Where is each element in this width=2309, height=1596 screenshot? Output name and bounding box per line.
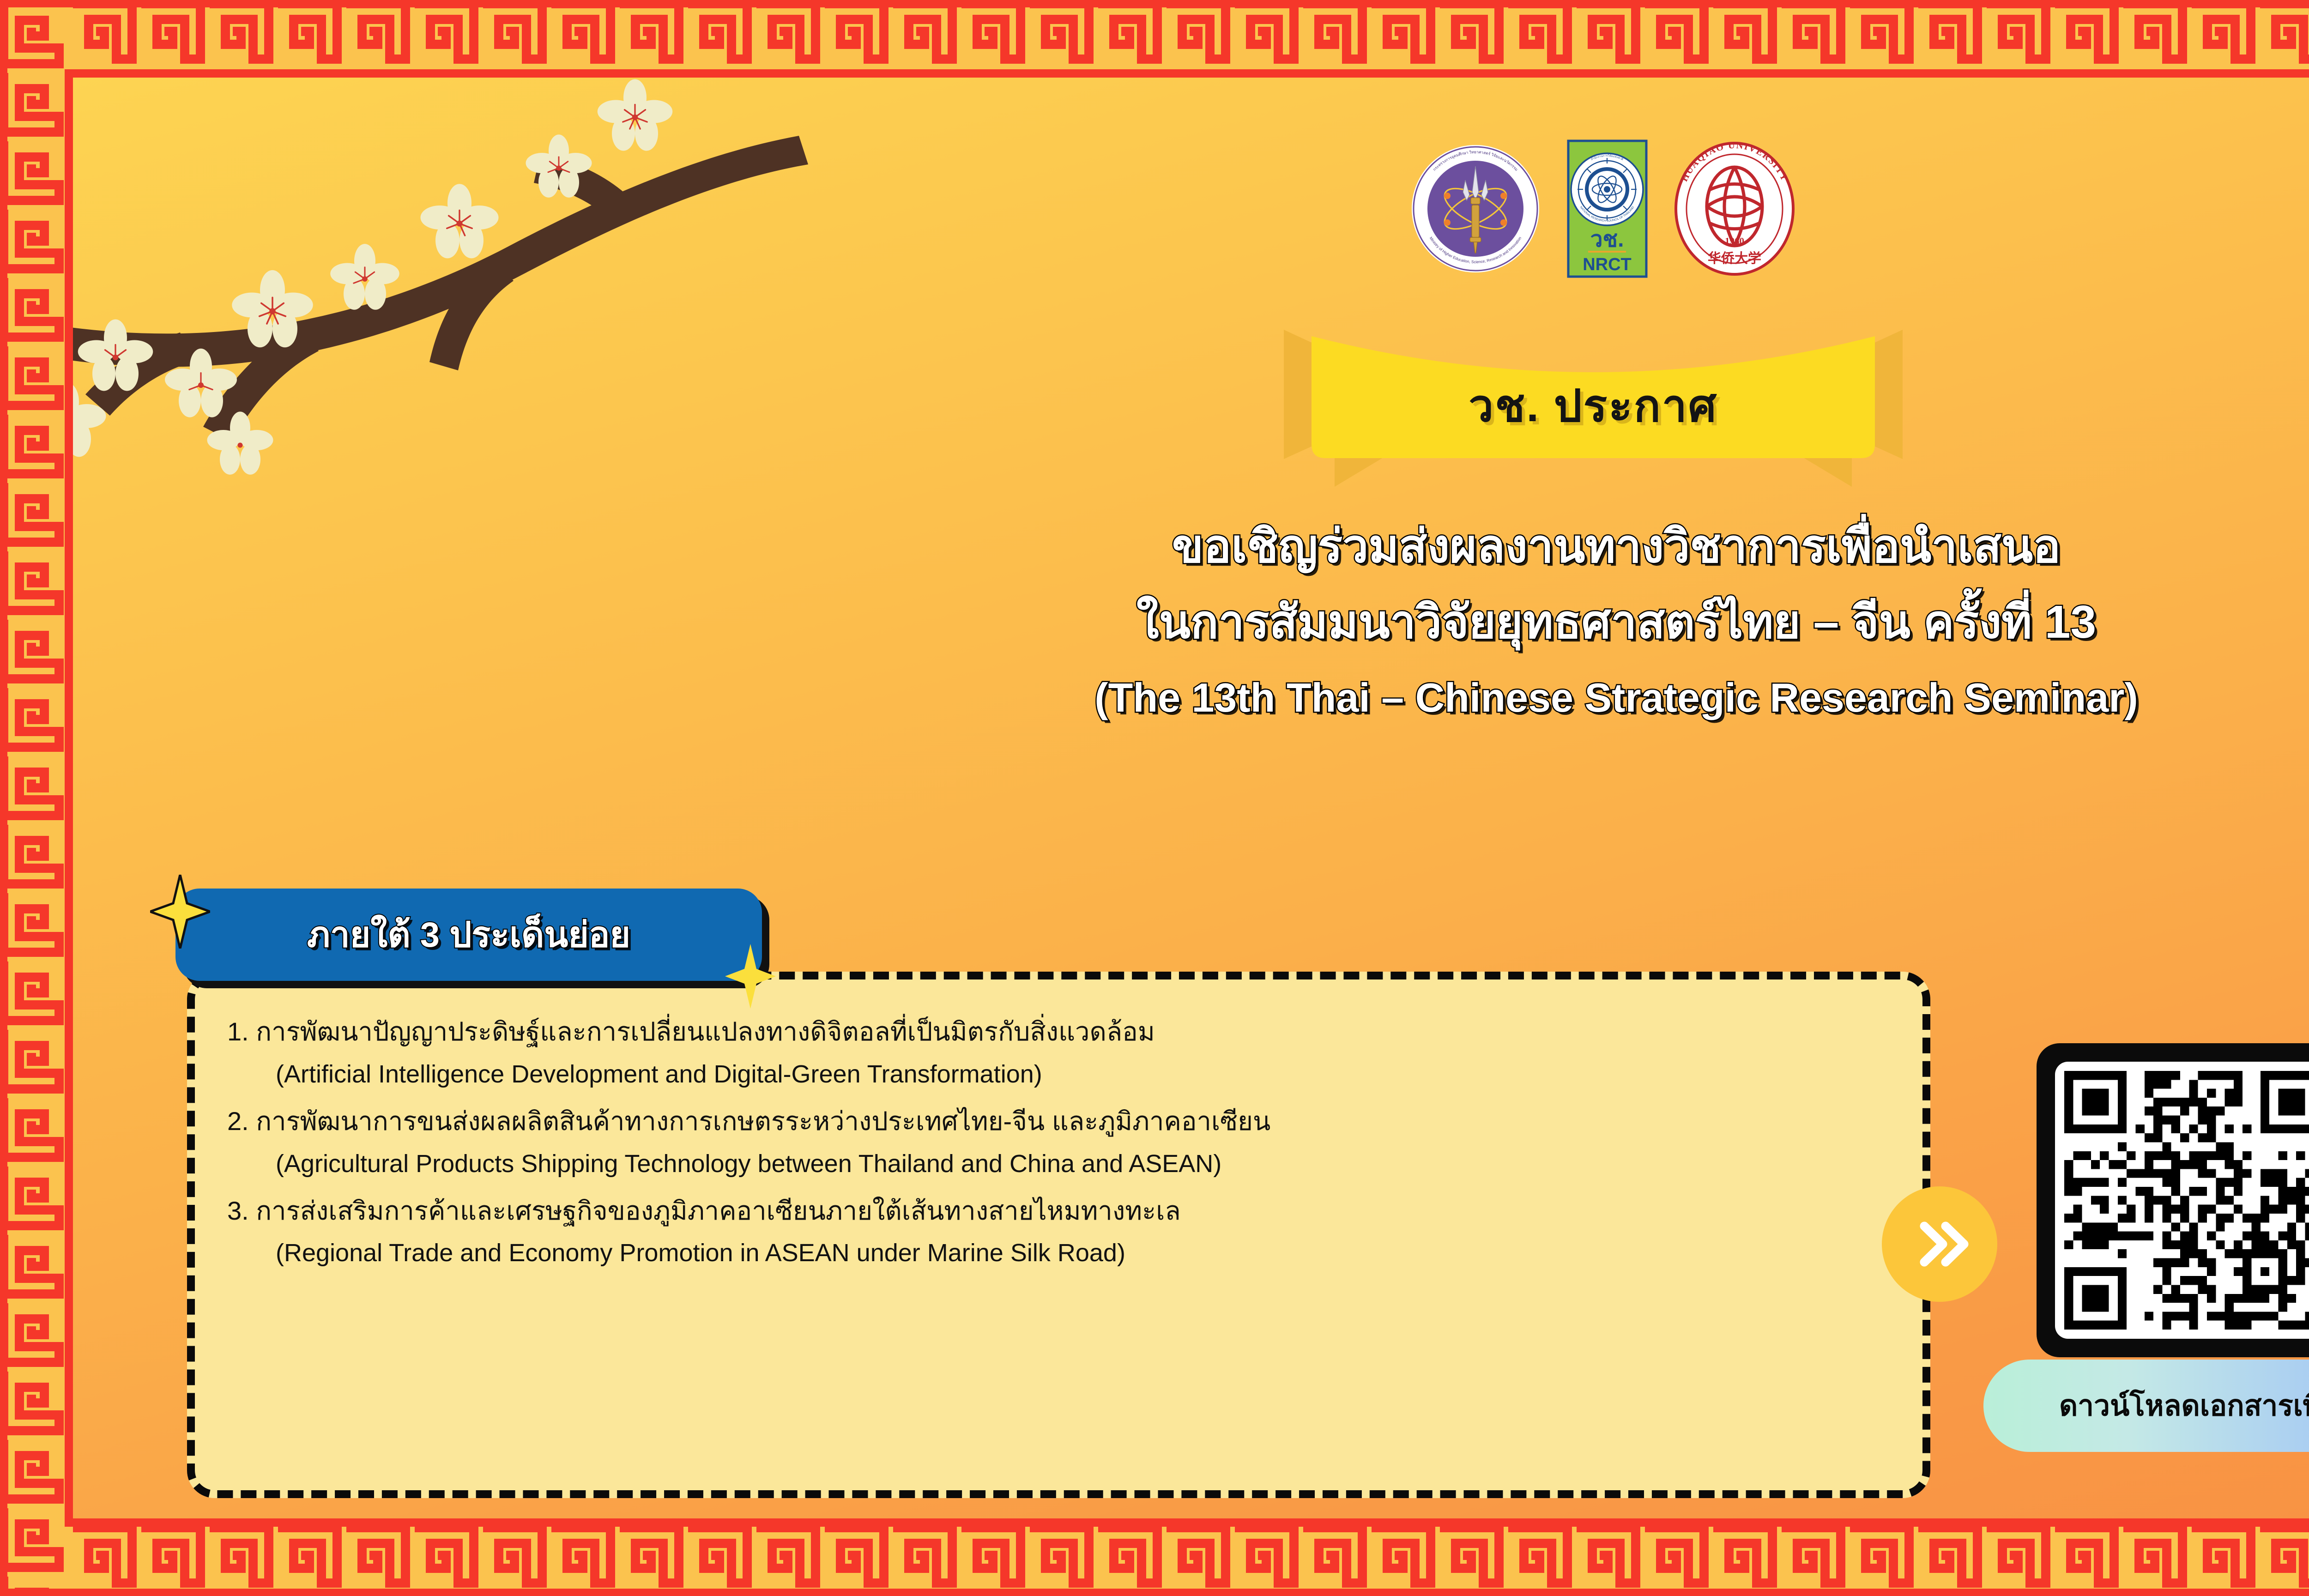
title-line-2: ในการสัมมนาวิจัยยุทธศาสตร์ไทย – จีน ครั้…	[831, 590, 2309, 654]
topic-item-1: 1. การพัฒนาปัญญาประดิษฐ์และการเปลี่ยนแปล…	[227, 1012, 1895, 1093]
title-line-3: (The 13th Thai – Chinese Strategic Resea…	[831, 670, 2309, 725]
topics-badge: ภายใต้ 3 ประเด็นย่อย	[175, 889, 762, 981]
topic-3-thai: 3. การส่งเสริมการค้าและเศรษฐกิจของภูมิภา…	[227, 1191, 1895, 1231]
title-line-1: ขอเชิญร่วมส่งผลงานทางวิชาการเพื่อนำเสนอ	[831, 514, 2309, 578]
download-label-text: ดาวน์โหลดเอกสารเพิ่มเติม	[2059, 1383, 2309, 1428]
topic-1-thai: 1. การพัฒนาปัญญาประดิษฐ์และการเปลี่ยนแปล…	[227, 1012, 1895, 1052]
topic-2-english: (Agricultural Products Shipping Technolo…	[276, 1145, 1895, 1183]
topic-item-2: 2. การพัฒนาการขนส่งผลผลิตสินค้าทางการเกษ…	[227, 1101, 1895, 1183]
sparkle-icon-topics-left	[150, 875, 210, 949]
logo-nrct-acronym: NRCT	[1583, 255, 1632, 274]
logo-huaqiao-cn-name: 华侨大学	[1707, 250, 1761, 266]
topic-item-3: 3. การส่งเสริมการค้าและเศรษฐกิจของภูมิภา…	[227, 1191, 1895, 1272]
logo-row: กระทรวงการอุดมศึกษา วิทยาศาสตร์ วิจัยและ…	[1261, 140, 1944, 279]
double-chevron-right-icon	[1905, 1209, 1974, 1279]
topic-2-thai: 2. การพัฒนาการขนส่งผลผลิตสินค้าทางการเกษ…	[227, 1101, 1895, 1142]
main-title-block: ขอเชิญร่วมส่งผลงานทางวิชาการเพื่อนำเสนอ …	[831, 514, 2309, 725]
qr-code-image	[2055, 1062, 2309, 1339]
qr-code-card[interactable]	[2037, 1043, 2309, 1357]
topics-panel: 1. การพัฒนาปัญญาประดิษฐ์และการเปลี่ยนแปล…	[187, 972, 1930, 1498]
logo-huaqiao-year: 1960	[1725, 236, 1744, 247]
ribbon-title-text: วช. ประกาศ	[1265, 330, 1921, 487]
download-label-pill[interactable]: ดาวน์โหลดเอกสารเพิ่มเติม	[1983, 1360, 2309, 1452]
next-chevron-button[interactable]	[1882, 1186, 1997, 1302]
logo-huaqiao: 1960 华侨大学 HUAQIAO UNIVERSITY	[1674, 142, 1795, 278]
ribbon-banner: วช. ประกาศ	[1265, 330, 1921, 487]
topic-1-english: (Artificial Intelligence Development and…	[276, 1056, 1895, 1093]
sparkle-icon-topics-right	[725, 944, 776, 1009]
topic-3-english: (Regional Trade and Economy Promotion in…	[276, 1234, 1895, 1272]
poster-canvas: กระทรวงการอุดมศึกษา วิทยาศาสตร์ วิจัยและ…	[69, 34, 2309, 1562]
topics-badge-label: ภายใต้ 3 ประเด็นย่อย	[307, 907, 630, 962]
poster-root: กระทรวงการอุดมศึกษา วิทยาศาสตร์ วิจัยและ…	[0, 0, 2309, 1596]
cherry-blossom-branch-left	[69, 62, 827, 524]
logo-nrct: สำนักงานการวิจัยแห่งชาติ NATIONAL RESEAR…	[1567, 139, 1648, 280]
logo-mhesi: กระทรวงการอุดมศึกษา วิทยาศาสตร์ วิจัยและ…	[1411, 144, 1540, 276]
logo-nrct-abbr: วช.	[1590, 227, 1624, 252]
